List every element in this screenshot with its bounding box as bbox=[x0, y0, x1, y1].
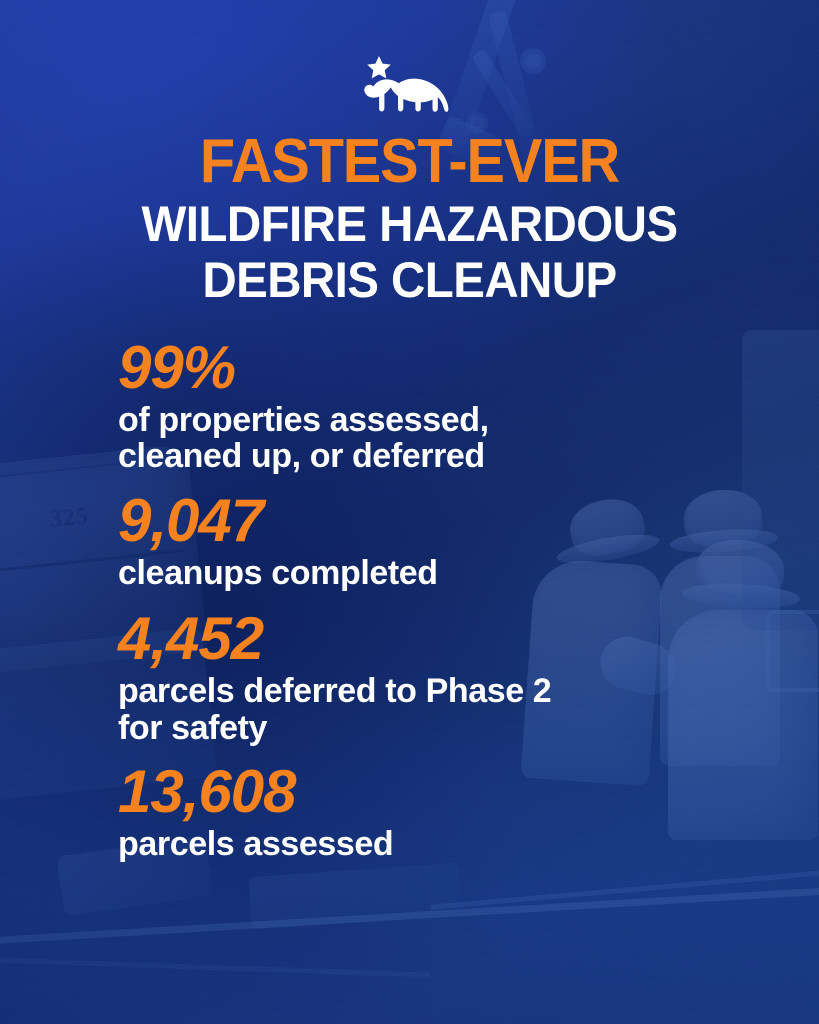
stat-item-cleanups-completed: 9,047 cleanups completed bbox=[118, 489, 778, 591]
stat-label: parcels assessed bbox=[118, 826, 778, 863]
page-title-subline-1: WILDFIRE HAZARDOUS bbox=[20, 199, 798, 249]
stat-item-parcels-assessed: 13,608 parcels assessed bbox=[118, 760, 778, 862]
stat-value: 13,608 bbox=[118, 760, 778, 824]
stat-value: 9,047 bbox=[118, 489, 778, 553]
infographic-poster: 325 bbox=[0, 0, 819, 1024]
stat-label: of properties assessed, cleaned up, or d… bbox=[118, 402, 778, 475]
stat-value: 99% bbox=[118, 336, 778, 400]
statistics-list: 99% of properties assessed, cleaned up, … bbox=[118, 336, 778, 881]
poster-content: FASTEST-EVER WILDFIRE HAZARDOUS DEBRIS C… bbox=[0, 0, 819, 1024]
stat-value: 4,452 bbox=[118, 607, 778, 671]
stat-item-properties-assessed: 99% of properties assessed, cleaned up, … bbox=[118, 336, 778, 475]
page-title-headline: FASTEST-EVER bbox=[29, 131, 791, 193]
page-title-subline-2: DEBRIS CLEANUP bbox=[20, 255, 798, 305]
stat-label: cleanups completed bbox=[118, 555, 778, 592]
stat-item-parcels-deferred: 4,452 parcels deferred to Phase 2 for sa… bbox=[118, 607, 778, 746]
stat-label: parcels deferred to Phase 2 for safety bbox=[118, 673, 778, 746]
california-bear-star-icon bbox=[361, 56, 457, 112]
